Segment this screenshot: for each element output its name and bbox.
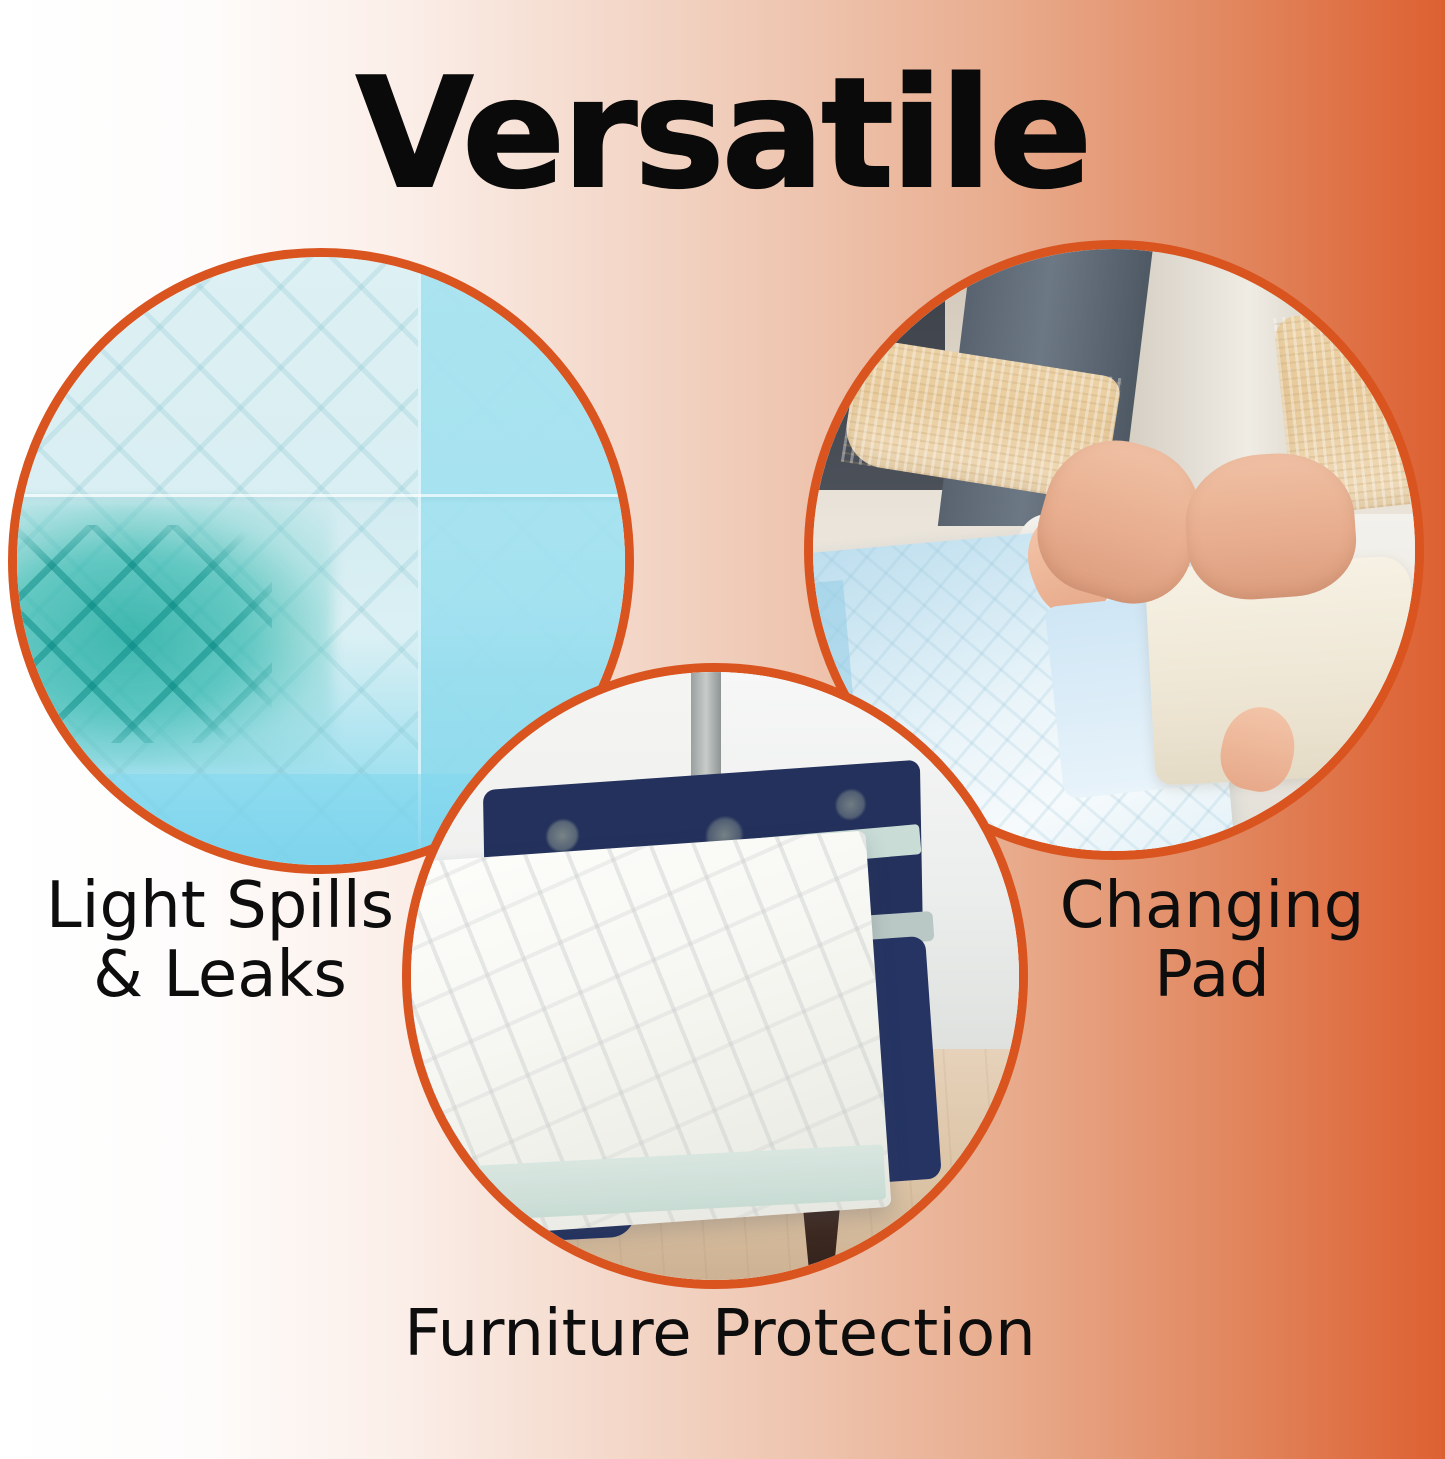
feature-label-light-spills: Light Spills & Leaks bbox=[20, 872, 420, 1010]
chair-with-pad-photo bbox=[411, 672, 1019, 1280]
feature-label-changing-pad: Changing Pad bbox=[1012, 872, 1412, 1010]
page-title: Versatile bbox=[0, 58, 1445, 210]
feature-label-furniture-protection: Furniture Protection bbox=[320, 1300, 1120, 1369]
pad-horizontal-fold bbox=[17, 494, 625, 497]
feature-image-furniture-protection bbox=[402, 663, 1028, 1289]
infographic-canvas: Versatile bbox=[0, 0, 1445, 1459]
liquid-stain-quilt bbox=[8, 525, 272, 744]
